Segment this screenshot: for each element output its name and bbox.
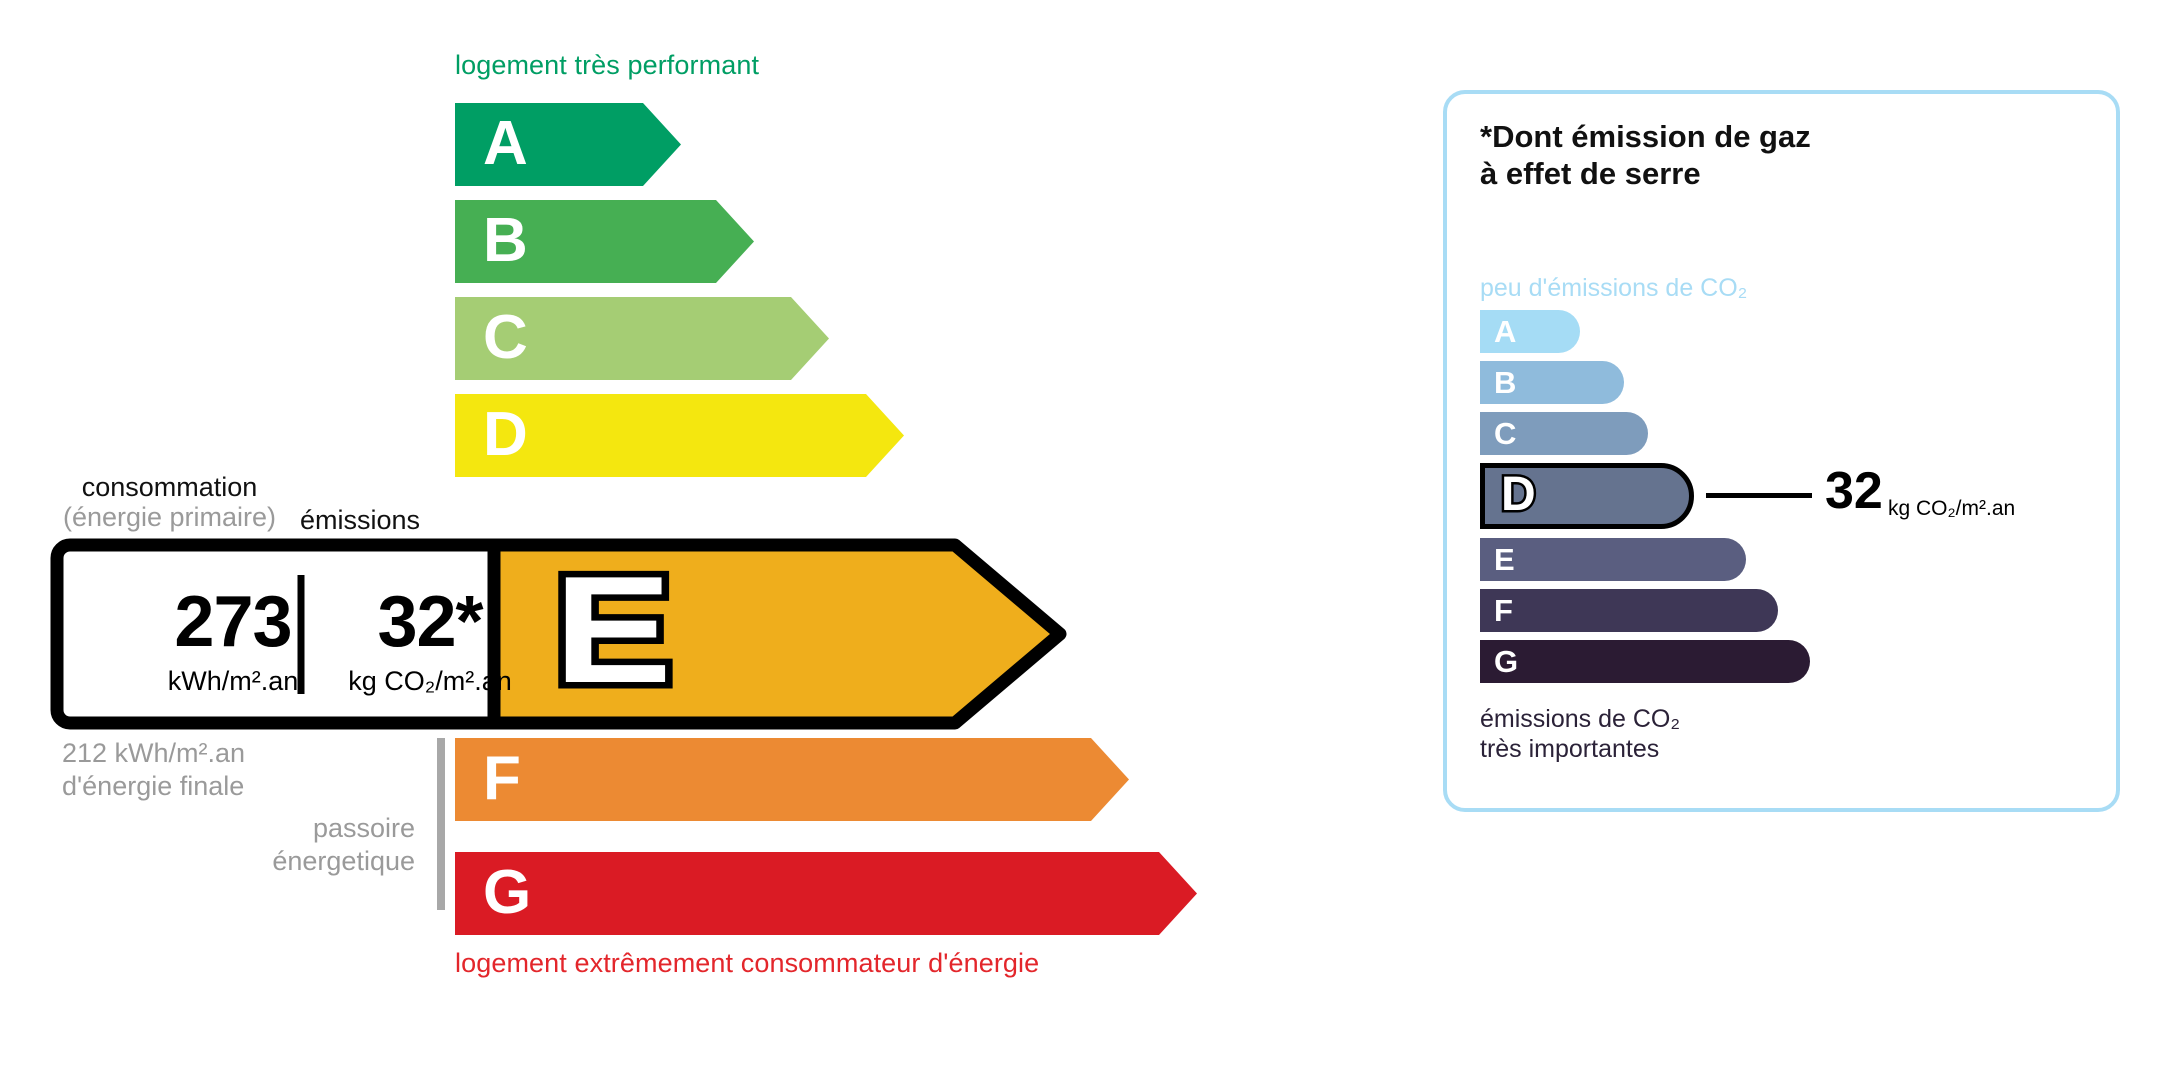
co2-caption-bottom: émissions de CO₂ très importantes bbox=[1480, 704, 1680, 764]
co2-bar-c: C bbox=[1480, 412, 1648, 455]
primary-energy-value: 273 bbox=[138, 586, 328, 658]
energy-ladder: logement très performant A B C bbox=[0, 0, 1400, 1079]
energy-letter-f: F bbox=[483, 747, 521, 809]
energy-bar-b: B bbox=[455, 200, 754, 283]
co2-bar-a: A bbox=[1480, 310, 1580, 353]
co2-letter-a: A bbox=[1494, 315, 1516, 346]
dpe-label: logement très performant A B C bbox=[0, 0, 2169, 1079]
co2-row-a: A bbox=[1480, 310, 2100, 353]
energy-letter-b: B bbox=[483, 209, 528, 271]
co2-bar-f: F bbox=[1480, 589, 1778, 632]
co2-bar-d: D bbox=[1480, 463, 1694, 529]
svg-text:E: E bbox=[554, 560, 672, 708]
co2-value-unit: kg CO₂/m².an bbox=[1888, 497, 2015, 521]
emissions-value: 32* bbox=[335, 586, 525, 658]
final-energy-note: 212 kWh/m².an d'énergie finale bbox=[62, 737, 245, 803]
co2-panel-title: *Dont émission de gaz à effet de serre bbox=[1480, 119, 1811, 192]
energy-letter-a: A bbox=[483, 112, 528, 174]
co2-bar-g: G bbox=[1480, 640, 1810, 683]
co2-row-b: B bbox=[1480, 361, 2100, 404]
co2-letter-b: B bbox=[1494, 366, 1516, 397]
primary-energy-unit: kWh/m².an bbox=[128, 666, 338, 697]
co2-letter-c: C bbox=[1494, 417, 1516, 448]
arrow-shape-f bbox=[455, 738, 1129, 821]
co2-row-d: D 32 kg CO₂/m².an bbox=[1480, 463, 2100, 529]
co2-row-c: C bbox=[1480, 412, 2100, 455]
co2-row-e: E bbox=[1480, 538, 2100, 581]
co2-letter-f: F bbox=[1494, 594, 1513, 625]
co2-leader-line bbox=[1706, 493, 1812, 498]
passoire-line2: énergetique bbox=[272, 846, 415, 876]
co2-bar-list: A B C D 32 kg CO₂/m².an bbox=[1480, 310, 2100, 691]
letter-e-glyph: E bbox=[548, 560, 688, 708]
co2-value: 32 bbox=[1825, 465, 1883, 517]
consumption-label: consommation (énergie primaire) bbox=[62, 472, 277, 532]
passoire-divider bbox=[437, 738, 445, 910]
co2-row-f: F bbox=[1480, 589, 2100, 632]
selected-energy-block: 273 kWh/m².an 32* kg CO₂/m².an E bbox=[50, 538, 1070, 730]
emissions-label: émissions bbox=[300, 505, 420, 536]
co2-panel: *Dont émission de gaz à effet de serre p… bbox=[1443, 90, 2120, 812]
energy-caption-bottom: logement extrêmement consommateur d'éner… bbox=[455, 948, 1039, 979]
co2-bar-e: E bbox=[1480, 538, 1746, 581]
co2-bar-b: B bbox=[1480, 361, 1624, 404]
passoire-note: passoire énergetique bbox=[230, 812, 415, 878]
co2-letter-e: E bbox=[1494, 543, 1515, 574]
co2-letter-g: G bbox=[1494, 645, 1518, 676]
arrow-shape-g bbox=[455, 852, 1197, 935]
energy-letter-c: C bbox=[483, 306, 528, 368]
final-energy-line1: 212 kWh/m².an bbox=[62, 738, 245, 768]
energy-bar-d: D bbox=[455, 394, 904, 477]
co2-row-g: G bbox=[1480, 640, 2100, 683]
co2-caption-top: peu d'émissions de CO₂ bbox=[1480, 274, 1747, 303]
selected-energy-letter: E bbox=[548, 560, 688, 708]
emissions-unit: kg CO₂/m².an bbox=[320, 666, 540, 697]
final-energy-line2: d'énergie finale bbox=[62, 771, 244, 801]
energy-bar-a: A bbox=[455, 103, 681, 186]
energy-bar-g: G bbox=[455, 852, 1197, 935]
co2-letter-d: D bbox=[1501, 471, 1536, 519]
consumption-label-sub: (énergie primaire) bbox=[62, 502, 277, 532]
consumption-label-main: consommation bbox=[82, 472, 258, 502]
energy-caption-top: logement très performant bbox=[455, 50, 759, 81]
energy-letter-g: G bbox=[483, 861, 531, 923]
energy-bar-c: C bbox=[455, 297, 829, 380]
energy-letter-d: D bbox=[483, 403, 528, 465]
energy-bar-f: F bbox=[455, 738, 1129, 821]
passoire-line1: passoire bbox=[313, 813, 415, 843]
